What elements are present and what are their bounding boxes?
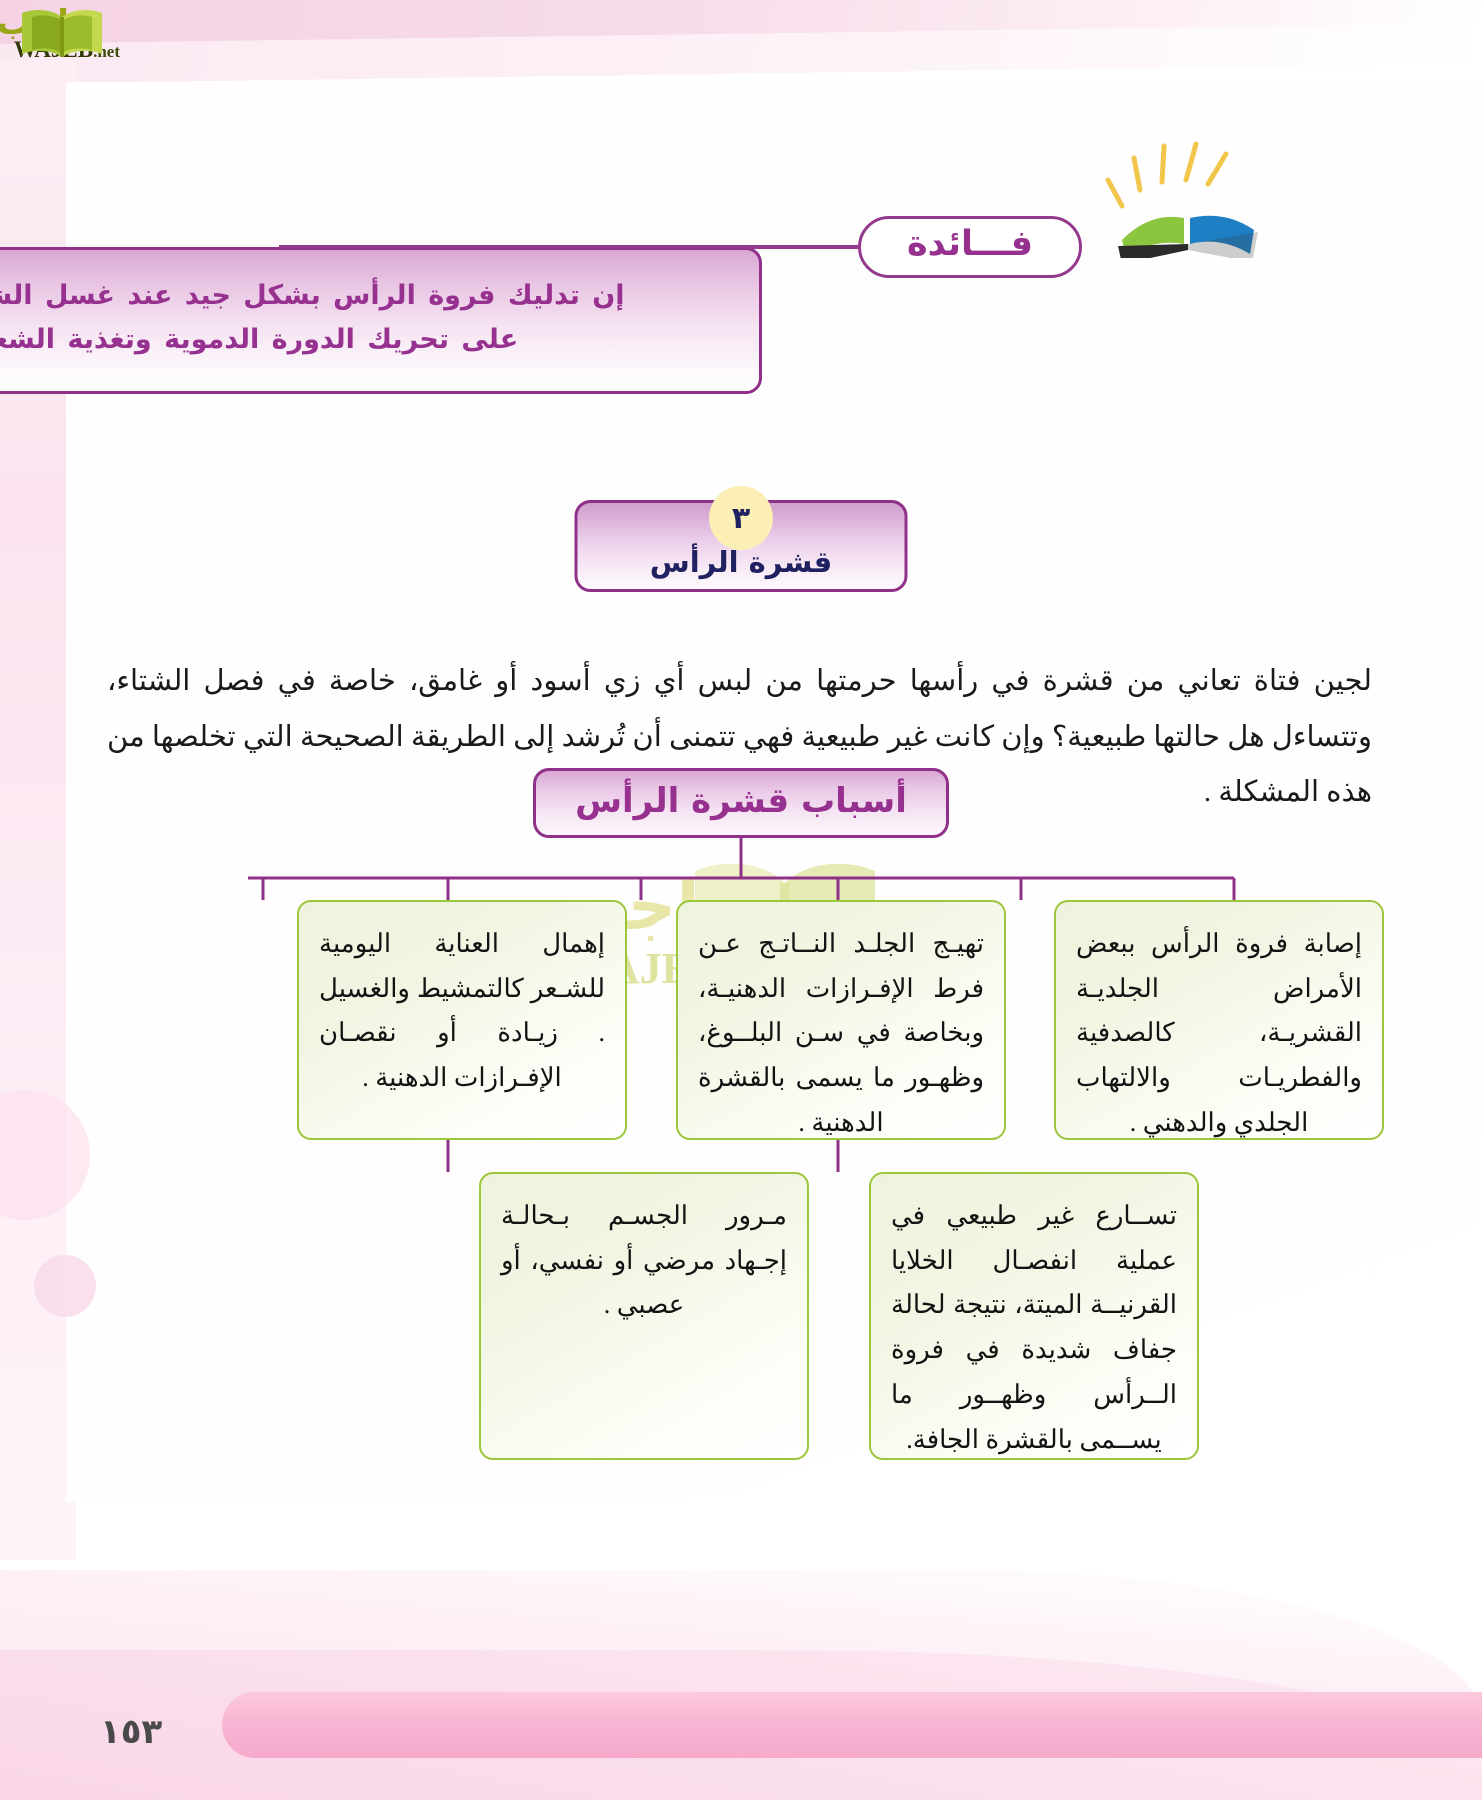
- page-number: ١٥٣: [100, 1712, 162, 1752]
- benefit-label-text: فـــائدة: [907, 227, 1033, 267]
- body-paragraph: لجين فتاة تعاني من قشرة في رأسها حرمتها …: [107, 654, 1372, 821]
- cause-box-right: إصابة فروة الرأس ببعض الأمراض الجلديـة ا…: [1054, 900, 1384, 1140]
- section-title: قشرة الرأس: [650, 545, 833, 579]
- site-logo: واجب WAJEB.net: [8, 5, 198, 63]
- section-header: قشرة الرأس ٣: [0, 500, 1482, 610]
- benefit-line-1: إن تدليك فروة الرأس بشكل جيد عند غسل الش…: [0, 274, 625, 318]
- cause-text: إهمال العناية اليومية للشـعر كالتمشيط وا…: [319, 922, 605, 1101]
- benefit-text-box: إن تدليك فروة الرأس بشكل جيد عند غسل الش…: [0, 247, 762, 394]
- cause-box-center: تهيـج الجلـد النــاتـج عـن فرط الإفـرازا…: [676, 900, 1006, 1140]
- footer-bar: [222, 1692, 1482, 1758]
- benefit-line-2: على تحريك الدورة الدموية وتغذية الشعر.: [0, 318, 518, 362]
- open-book-icon: [16, 7, 108, 63]
- cause-text: إصابة فروة الرأس ببعض الأمراض الجلديـة ا…: [1076, 922, 1362, 1146]
- cause-box-bottom-left: تســارع غير طبيعي في عملية انفصـال الخلا…: [869, 1172, 1199, 1460]
- benefit-rule-line: [279, 245, 864, 249]
- cause-text: تهيـج الجلـد النــاتـج عـن فرط الإفـرازا…: [698, 922, 984, 1146]
- cause-box-bottom-right: مـرور الجسـم بـحالـة إجـهاد مرضي أو نفسي…: [479, 1172, 809, 1460]
- open-book-with-rays-icon: [1092, 128, 1292, 258]
- cause-text: مـرور الجسـم بـحالـة إجـهاد مرضي أو نفسي…: [501, 1194, 787, 1328]
- benefit-label-pill: فـــائدة: [858, 216, 1082, 278]
- causes-flowchart: واجب WAJEB.net أسباب قشرة الرأس: [0, 760, 1482, 1480]
- cause-box-left: إهمال العناية اليومية للشـعر كالتمشيط وا…: [297, 900, 627, 1140]
- section-number-badge: ٣: [709, 486, 773, 550]
- cause-text: تســارع غير طبيعي في عملية انفصـال الخلا…: [891, 1194, 1177, 1462]
